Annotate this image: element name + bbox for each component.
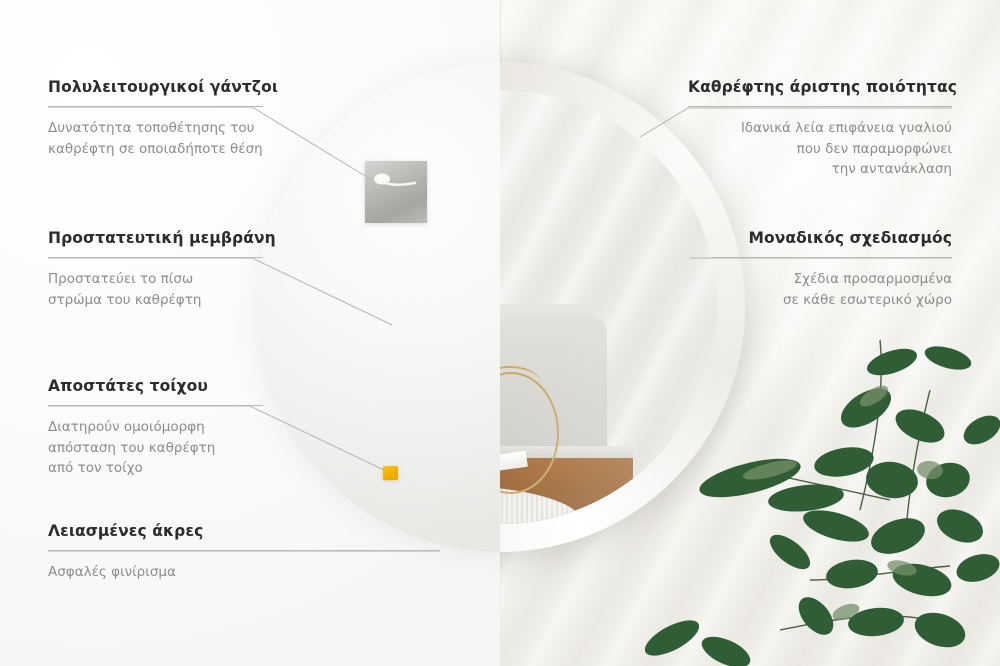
callout-spacers-body-line: από τον τοίχο [48,458,263,479]
callout-design-body-line: σε κάθε εσωτερικό χώρο [712,290,952,311]
callout-membrane-title: Προστατευτική μεμβράνη [48,229,263,248]
callout-edges-body: Ασφαλές φινίρισμα [48,562,440,583]
callout-hooks-title: Πολυλειτουργικοί γάντζοι [48,78,263,97]
callout-hooks: Πολυλειτουργικοί γάντζοι Δυνατότητα τοπο… [48,78,263,159]
callout-design-title: Μοναδικός σχεδιασμός [712,229,952,248]
callout-design: Μοναδικός σχεδιασμός Σχέδια προσαρμοσμέν… [712,229,952,310]
callout-membrane-body-line: Προστατεύει το πίσω [48,269,263,290]
callout-edges-body-line: Ασφαλές φινίρισμα [48,562,440,583]
leaf-branches-icon [630,330,1000,666]
callout-hooks-body: Δυνατότητα τοποθέτησης του καθρέφτη σε ο… [48,118,263,160]
plant-foliage [630,330,1000,666]
callout-quality: Καθρέφτης άριστης ποιότητας Ιδανικά λεία… [688,78,952,180]
callout-design-rule [712,257,952,258]
callout-edges: Λειασμένες άκρες Ασφαλές φινίρισμα [48,522,440,583]
callout-design-body-line: Σχέδια προσαρμοσμένα [712,269,952,290]
callout-spacers-body-line: απόσταση του καθρέφτη [48,438,263,459]
callout-spacers-rule [48,405,263,406]
callout-quality-body: Ιδανικά λεία επιφάνεια γυαλιού που δεν π… [688,118,952,181]
callout-spacers-body-line: Διατηρούν ομοιόμορφη [48,417,263,438]
callout-design-body: Σχέδια προσαρμοσμένα σε κάθε εσωτερικό χ… [712,269,952,311]
callout-hooks-body-line: Δυνατότητα τοποθέτησης του [48,118,263,139]
callout-spacers: Αποστάτες τοίχου Διατηρούν ομοιόμορφη απ… [48,377,263,479]
callout-edges-title: Λειασμένες άκρες [48,522,440,541]
callout-quality-body-line: Ιδανικά λεία επιφάνεια γυαλιού [688,118,952,139]
callout-spacers-body: Διατηρούν ομοιόμορφη απόσταση του καθρέφ… [48,417,263,480]
callout-membrane: Προστατευτική μεμβράνη Προστατεύει το πί… [48,229,263,310]
callout-hooks-rule [48,106,263,107]
wall-hook-icon [373,171,419,193]
callout-edges-rule [48,550,440,551]
callout-membrane-body: Προστατεύει το πίσω στρώμα του καθρέφτη [48,269,263,311]
wall-hook-detail [365,161,427,223]
callout-spacers-title: Αποστάτες τοίχου [48,377,263,396]
callout-membrane-body-line: στρώμα του καθρέφτη [48,290,263,311]
callout-hooks-body-line: καθρέφτη σε οποιαδήποτε θέση [48,139,263,160]
callout-quality-rule [688,106,952,107]
wall-spacer-detail [383,466,398,480]
callout-quality-body-line: την αντανάκλαση [688,159,952,180]
callout-membrane-rule [48,257,263,258]
infographic-canvas: Πολυλειτουργικοί γάντζοι Δυνατότητα τοπο… [0,0,1000,666]
callout-quality-title: Καθρέφτης άριστης ποιότητας [688,78,952,97]
callout-quality-body-line: που δεν παραμορφώνει [688,139,952,160]
